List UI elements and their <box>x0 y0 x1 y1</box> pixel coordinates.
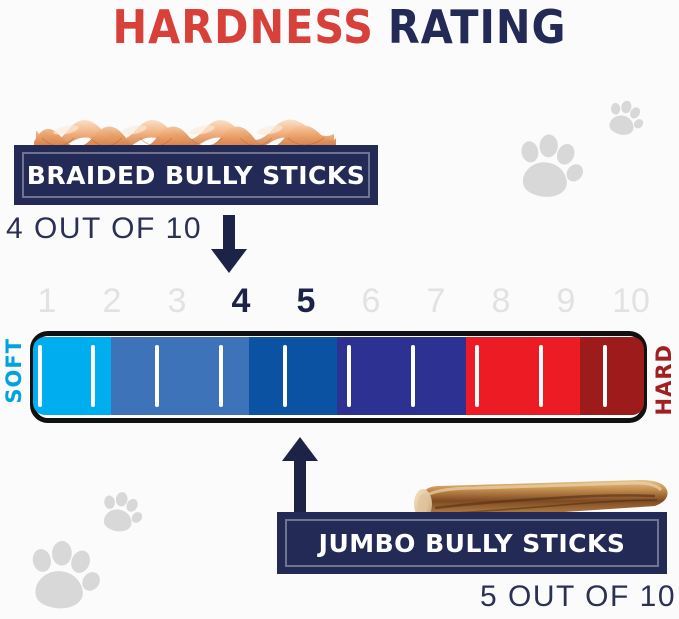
scale-number-7: 7 <box>405 281 467 321</box>
paw-print-icon <box>505 122 593 210</box>
braided-rating-text: 4 OUT OF 10 <box>6 212 202 246</box>
scale-number-9: 9 <box>535 281 597 321</box>
page-title: HARDNESSRATING <box>0 4 679 50</box>
arrow-down-icon <box>210 215 248 275</box>
bar-segment-medium-blue <box>111 337 249 415</box>
braided-banner-label: BRAIDED BULLY STICKS <box>27 161 365 190</box>
scale-number-8: 8 <box>470 281 532 321</box>
scale-number-2: 2 <box>81 281 143 321</box>
bar-tick-1 <box>38 345 42 407</box>
bar-tick-10 <box>603 345 607 407</box>
scale-number-1: 1 <box>16 281 78 321</box>
bar-tick-3 <box>155 345 159 407</box>
bar-segment-bright-red <box>466 337 580 415</box>
scale-number-5: 5 <box>275 281 337 321</box>
jumbo-bully-sticks-banner: JUMBO BULLY STICKS <box>277 512 667 574</box>
soft-label: SOFT <box>2 338 26 404</box>
paw-print-icon <box>599 92 652 145</box>
bar-tick-4 <box>219 345 223 407</box>
scale-number-10: 10 <box>600 281 662 321</box>
banner-inner-border: BRAIDED BULLY STICKS <box>22 152 370 198</box>
bar-tick-8 <box>475 345 479 407</box>
arrow-up-icon <box>281 437 319 515</box>
bar-tick-2 <box>91 345 95 407</box>
title-word-hardness: HARDNESS <box>113 0 374 54</box>
scale-number-4: 4 <box>210 281 272 321</box>
hardness-scale-bar <box>30 331 647 423</box>
hard-label: HARD <box>652 344 676 415</box>
scale-number-3: 3 <box>146 281 208 321</box>
scale-number-row: 1 2 3 4 5 6 7 8 9 10 <box>16 281 662 321</box>
bar-segment-dark-red <box>580 337 644 415</box>
scale-number-6: 6 <box>340 281 402 321</box>
bar-tick-6 <box>347 345 351 407</box>
bar-segment-soft-cyan <box>33 337 111 415</box>
paw-print-icon <box>92 483 150 541</box>
jumbo-banner-label: JUMBO BULLY STICKS <box>319 529 626 558</box>
bar-tick-5 <box>283 345 287 407</box>
braided-bully-sticks-banner: BRAIDED BULLY STICKS <box>14 145 378 205</box>
bar-tick-7 <box>411 345 415 407</box>
bar-segment-strong-blue <box>249 337 337 415</box>
hardness-rating-infographic: HARDNESSRATING <box>0 0 679 619</box>
banner-inner-border: JUMBO BULLY STICKS <box>285 519 659 567</box>
bar-gradient-track <box>33 337 644 415</box>
bar-tick-9 <box>539 345 543 407</box>
title-word-rating: RATING <box>388 0 567 54</box>
bar-segment-deep-indigo-blue <box>337 337 465 415</box>
paw-print-icon <box>17 529 110 619</box>
jumbo-rating-text: 5 OUT OF 10 <box>480 580 676 614</box>
